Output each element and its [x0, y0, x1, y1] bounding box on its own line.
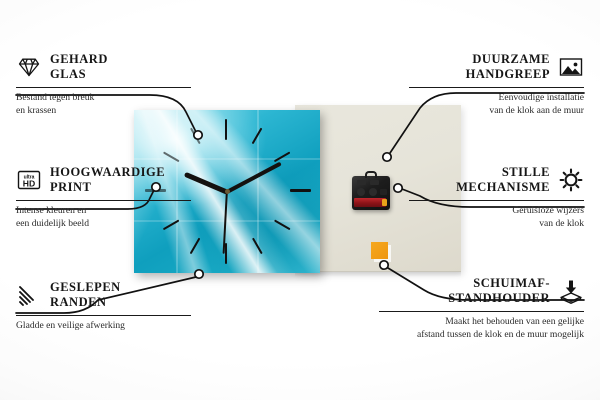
ultra-hd-icon: ultra HD — [16, 167, 42, 193]
feature-title: SCHUIMAF- STANDHOUDER — [448, 276, 550, 307]
feature-desc: Eenvoudige installatie van de klok aan d… — [409, 92, 584, 117]
feature-desc: Maakt het behouden van een gelijke afsta… — [379, 316, 584, 341]
gear-icon — [558, 167, 584, 193]
movement-dial-1 — [357, 188, 365, 196]
feature-stille-mechanisme: STILLE MECHANISME Geruisloze wijzers van… — [409, 165, 584, 230]
movement-dial-2 — [369, 188, 377, 196]
feature-geslepen-randen: GESLEPEN RANDEN Gladde en veilige afwerk… — [16, 280, 191, 333]
feature-rule — [16, 315, 191, 317]
feature-rule — [409, 87, 584, 89]
feature-desc: Gladde en veilige afwerking — [16, 320, 191, 333]
tick-7 — [190, 238, 201, 255]
feature-rule — [16, 87, 191, 89]
feature-desc: Geruisloze wijzers van de klok — [409, 205, 584, 230]
feature-rule — [379, 311, 584, 313]
product-infographic: GEHARD GLAS Bestand tegen breuk en krass… — [0, 0, 600, 400]
feature-title: STILLE MECHANISME — [456, 165, 550, 196]
beveled-edges-icon — [16, 282, 42, 308]
feature-desc: Bestand tegen breuk en krassen — [16, 92, 191, 117]
feature-title: GESLEPEN RANDEN — [50, 280, 121, 311]
hanger-loop — [365, 171, 377, 178]
minute-hand — [226, 161, 282, 193]
feature-title: DUURZAME HANDGREEP — [466, 52, 550, 83]
feature-rule — [409, 200, 584, 202]
feature-duurzame-handgreep: DUURZAME HANDGREEP Eenvoudige installati… — [409, 52, 584, 117]
tick-2 — [274, 151, 291, 162]
arrow-into-platform-icon — [558, 278, 584, 304]
tick-6 — [225, 243, 227, 264]
feature-hoogwaardige-print: ultra HD HOOGWAARDIGE PRINT Intense kleu… — [16, 165, 191, 230]
foam-spacer — [371, 242, 388, 259]
movement-slot-1 — [357, 180, 366, 185]
svg-text:HD: HD — [23, 179, 35, 189]
picture-frame-icon — [558, 54, 584, 80]
movement-vent — [380, 189, 387, 195]
feature-rule — [16, 200, 191, 202]
diamond-icon — [16, 54, 42, 80]
tick-3 — [290, 189, 311, 192]
battery — [354, 198, 386, 207]
tick-11 — [190, 128, 201, 145]
feature-title: GEHARD GLAS — [50, 52, 108, 83]
clock-movement — [352, 176, 390, 210]
feature-gehard-glas: GEHARD GLAS Bestand tegen breuk en krass… — [16, 52, 191, 117]
tick-12 — [225, 119, 227, 140]
feature-desc: Intense kleuren en een duidelijk beeld — [16, 205, 191, 230]
clock-hub — [225, 189, 230, 194]
movement-slot-2 — [370, 180, 379, 185]
feature-schuimaf-standhouder: SCHUIMAF- STANDHOUDER Maakt het behouden… — [379, 276, 584, 341]
feature-title: HOOGWAARDIGE PRINT — [50, 165, 165, 196]
